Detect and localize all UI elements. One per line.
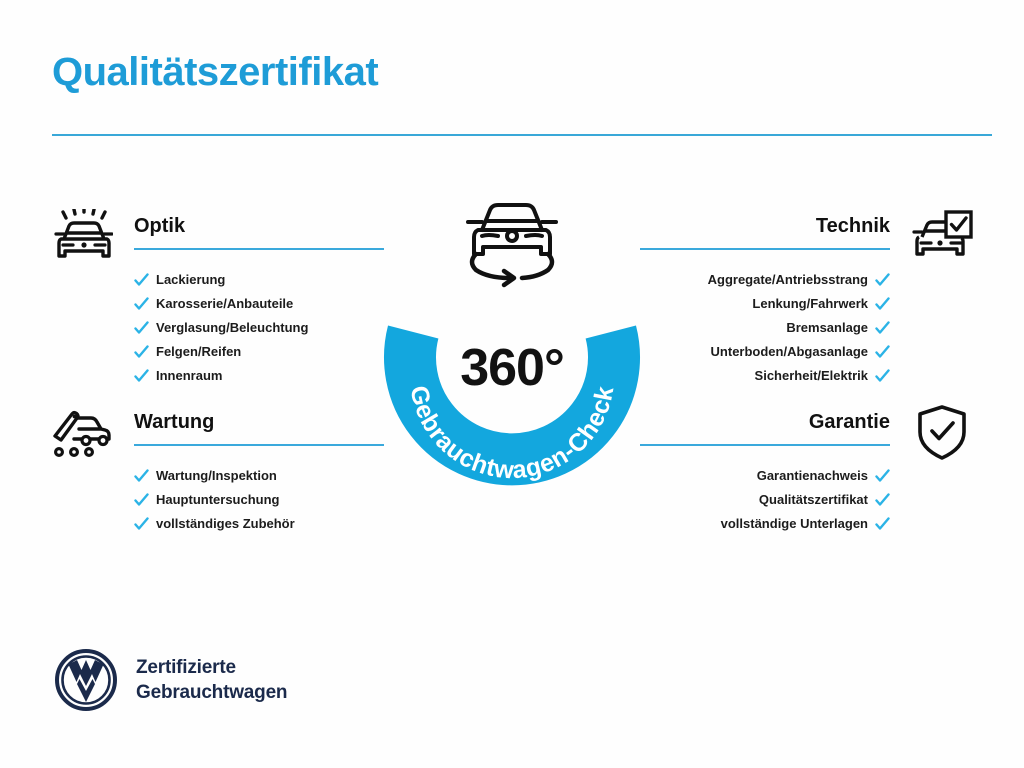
title-divider (52, 134, 992, 136)
list-item-label: Unterboden/Abgasanlage (711, 340, 868, 364)
list-item: Hauptuntersuchung (134, 488, 295, 512)
check-icon (134, 273, 149, 288)
list-item-label: Qualitätszertifikat (759, 488, 868, 512)
list-item-label: vollständige Unterlagen (721, 512, 868, 536)
check-icon (134, 297, 149, 312)
section-title-garantie: Garantie (640, 402, 890, 442)
list-item: Bremsanlage (708, 316, 890, 340)
section-underline (134, 444, 384, 446)
page-title: Qualitätszertifikat (52, 50, 378, 95)
list-item: Qualitätszertifikat (721, 488, 890, 512)
vw-branding-line1: Zertifizierte (136, 655, 287, 680)
section-header: Wartung (44, 402, 295, 464)
list-item-label: Lenkung/Fahrwerk (752, 292, 868, 316)
section-wartung: Wartung Wartung/Inspektion Hauptuntersuc… (44, 402, 295, 536)
check-icon (134, 321, 149, 336)
list-item-label: Innenraum (156, 364, 222, 388)
car-rotate-360-icon (454, 192, 570, 292)
list-item-label: Verglasung/Beleuchtung (156, 316, 308, 340)
vw-branding-text: Zertifizierte Gebrauchtwagen (136, 655, 287, 705)
checklist-garantie: Garantienachweis Qualitätszertifikat vol… (721, 464, 890, 536)
section-header: Optik (44, 206, 308, 268)
list-item-label: vollständiges Zubehör (156, 512, 295, 536)
volkswagen-branding: Zertifizierte Gebrauchtwagen (54, 648, 287, 712)
section-title-optik: Optik (134, 206, 384, 246)
list-item: Garantienachweis (721, 464, 890, 488)
list-item-label: Hauptuntersuchung (156, 488, 280, 512)
list-item: Innenraum (134, 364, 308, 388)
section-title-wrap: Wartung (134, 402, 384, 446)
section-underline (134, 248, 384, 250)
check-icon (875, 369, 890, 384)
list-item: Unterboden/Abgasanlage (708, 340, 890, 364)
list-item-label: Garantienachweis (757, 464, 868, 488)
check-icon (875, 345, 890, 360)
check-icon (875, 321, 890, 336)
checklist-wartung: Wartung/Inspektion Hauptuntersuchung vol… (134, 464, 295, 536)
check-icon (134, 469, 149, 484)
check-icon (134, 493, 149, 508)
list-item: Verglasung/Beleuchtung (134, 316, 308, 340)
car-checkbox-icon (904, 206, 980, 268)
section-technik: Technik Aggregate/Antriebsstrang Lenkung… (708, 206, 980, 388)
section-title-wrap: Garantie (640, 402, 890, 446)
wrench-car-lift-icon (44, 402, 120, 464)
check-icon (875, 517, 890, 532)
check-icon (875, 297, 890, 312)
list-item: vollständige Unterlagen (721, 512, 890, 536)
section-header: Technik (708, 206, 980, 268)
certificate-page: Qualitätszertifikat (0, 0, 1024, 768)
checklist-optik: Lackierung Karosserie/Anbauteile Verglas… (134, 268, 308, 388)
shield-check-icon (904, 402, 980, 464)
list-item: Aggregate/Antriebsstrang (708, 268, 890, 292)
section-garantie: Garantie Garantienachweis Qualitätszerti… (721, 402, 980, 536)
list-item-label: Wartung/Inspektion (156, 464, 277, 488)
check-icon (875, 273, 890, 288)
check-icon (134, 517, 149, 532)
vw-branding-line2: Gebrauchtwagen (136, 680, 287, 705)
section-title-wartung: Wartung (134, 402, 384, 442)
list-item-label: Lackierung (156, 268, 225, 292)
volkswagen-logo (54, 648, 118, 712)
list-item: Sicherheit/Elektrik (708, 364, 890, 388)
list-item: Wartung/Inspektion (134, 464, 295, 488)
section-header: Garantie (721, 402, 980, 464)
list-item: Karosserie/Anbauteile (134, 292, 308, 316)
section-optik: Optik Lackierung Karosserie/Anbauteile V… (44, 206, 308, 388)
list-item: vollständiges Zubehör (134, 512, 295, 536)
check-icon (875, 469, 890, 484)
list-item-label: Felgen/Reifen (156, 340, 241, 364)
list-item: Felgen/Reifen (134, 340, 308, 364)
check-icon (875, 493, 890, 508)
list-item: Lenkung/Fahrwerk (708, 292, 890, 316)
badge-degrees: 360° (374, 338, 650, 398)
list-item-label: Sicherheit/Elektrik (755, 364, 868, 388)
section-title-technik: Technik (640, 206, 890, 246)
360-check-badge: Gebrauchtwagen-Check 360° (374, 252, 650, 488)
section-title-wrap: Technik (640, 206, 890, 250)
list-item-label: Aggregate/Antriebsstrang (708, 268, 868, 292)
list-item-label: Bremsanlage (786, 316, 868, 340)
section-underline (640, 248, 890, 250)
check-icon (134, 369, 149, 384)
list-item: Lackierung (134, 268, 308, 292)
check-icon (134, 345, 149, 360)
checklist-technik: Aggregate/Antriebsstrang Lenkung/Fahrwer… (708, 268, 890, 388)
list-item-label: Karosserie/Anbauteile (156, 292, 293, 316)
section-title-wrap: Optik (134, 206, 384, 250)
section-underline (640, 444, 890, 446)
car-shine-icon (44, 206, 120, 268)
